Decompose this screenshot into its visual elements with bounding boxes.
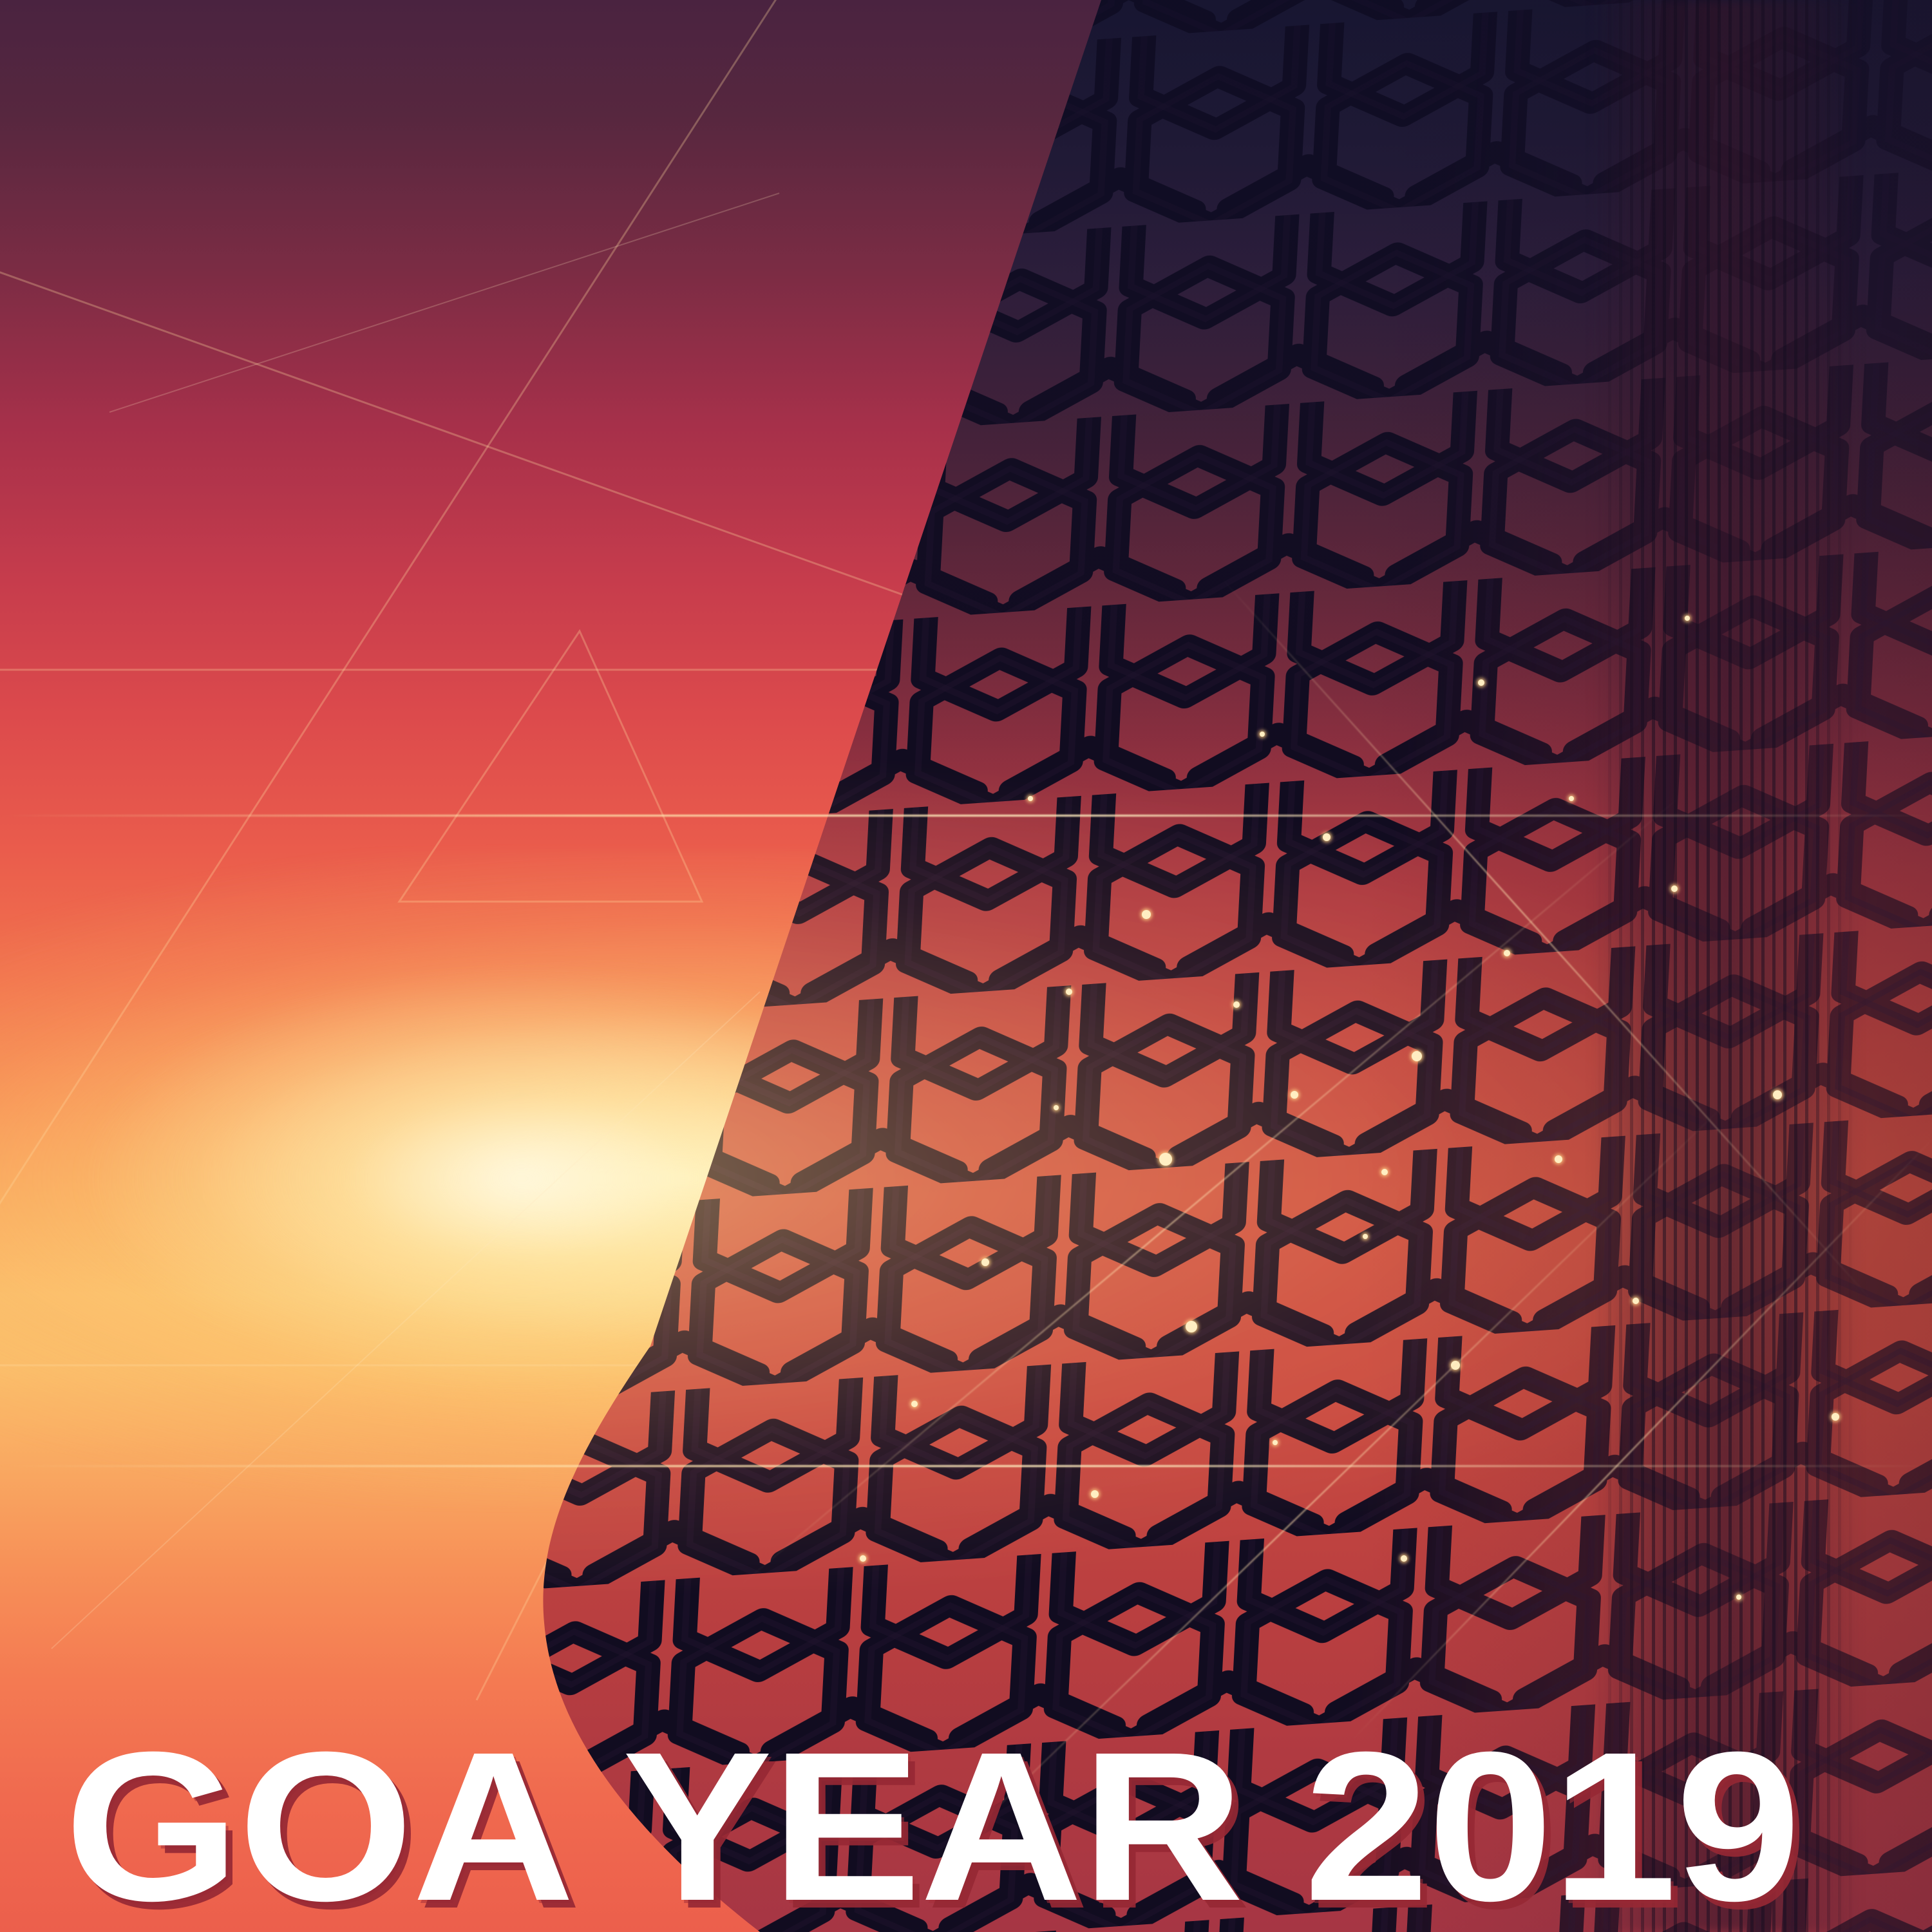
album-cover-canvas: GOA YEAR 2019 xyxy=(0,0,1932,1932)
cover-title: GOA YEAR 2019 xyxy=(64,1735,1932,1918)
